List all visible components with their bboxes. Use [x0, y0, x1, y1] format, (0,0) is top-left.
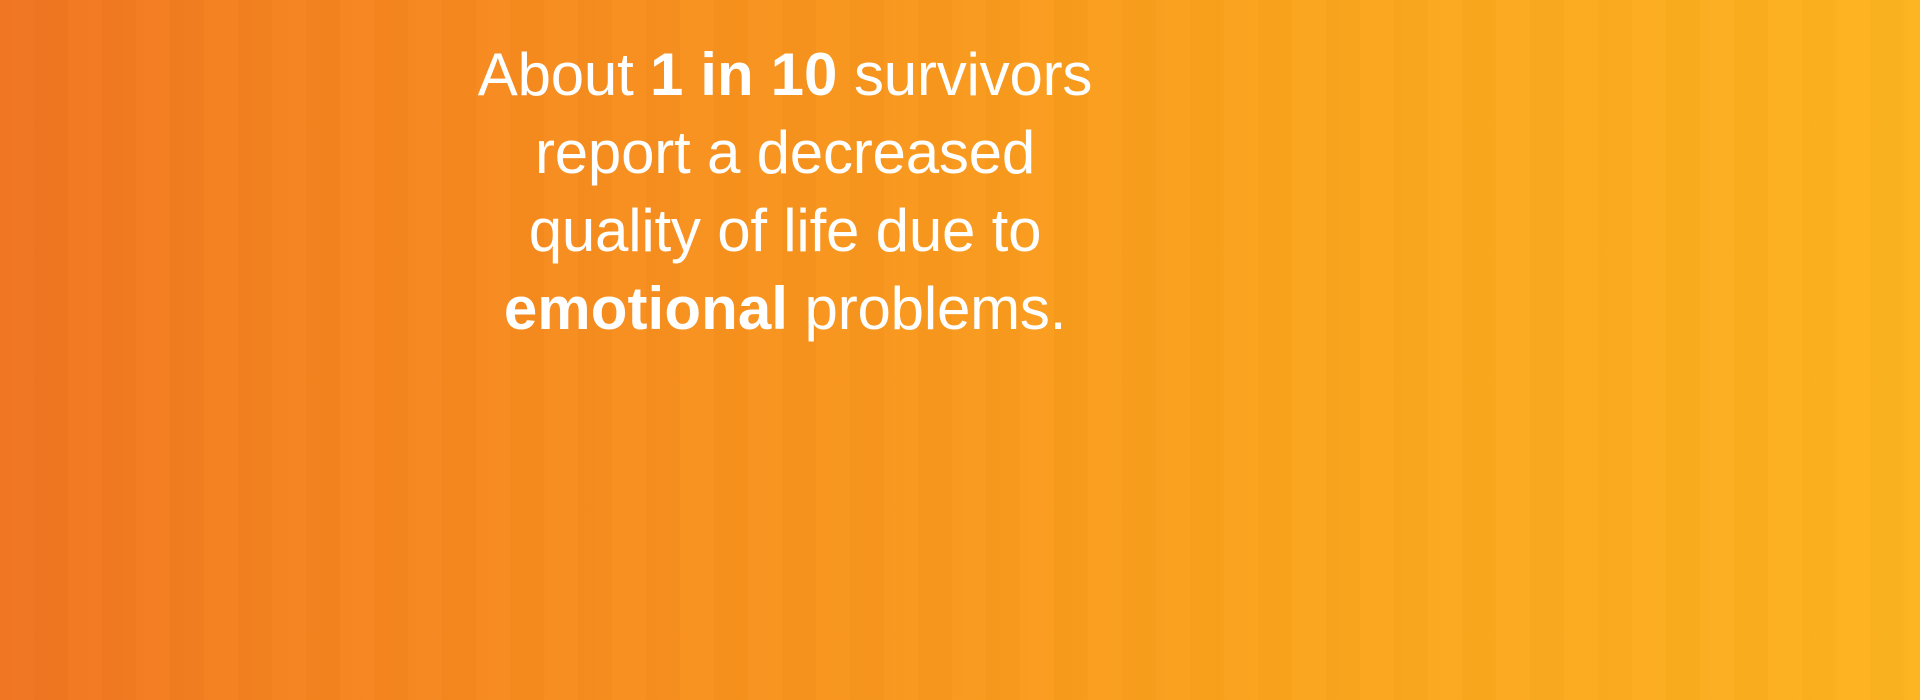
callout-line-4-suffix: problems. [788, 275, 1066, 342]
emphasis-word-emotional: emotional [504, 275, 788, 342]
callout-line-4: emotional problems. [475, 270, 1095, 348]
statistic-banner: About 1 in 10 survivors report a decreas… [0, 0, 1920, 700]
callout-line-2: report a decreased [475, 114, 1095, 192]
statistic-callout-text: About 1 in 10 survivors report a decreas… [475, 36, 1095, 348]
callout-line-3: quality of life due to [475, 192, 1095, 270]
callout-line-1-prefix: About [478, 41, 650, 108]
callout-container: About 1 in 10 survivors report a decreas… [0, 0, 1570, 700]
callout-line-1-suffix: survivors [838, 41, 1093, 108]
statistic-value-1-in-10: 1 in 10 [650, 41, 837, 108]
callout-line-1: About 1 in 10 survivors [475, 36, 1095, 114]
